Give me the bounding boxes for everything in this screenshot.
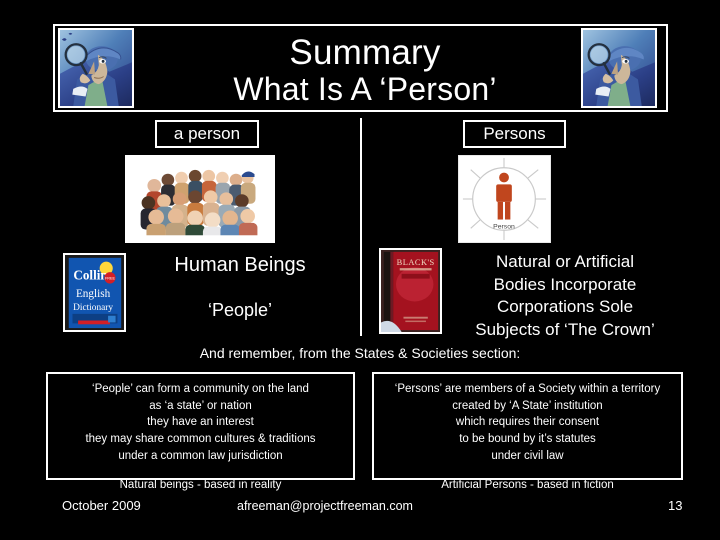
right-column-text: Natural or Artificial Bodies Incorporate… — [440, 251, 690, 341]
blacks-law-dictionary-photo: BLACK'S — [379, 248, 442, 334]
bottom-right-line-5: under civil law — [491, 448, 563, 465]
title-banner: Summary What Is A ‘Person’ — [53, 24, 668, 112]
footer-date: October 2009 — [62, 498, 141, 513]
remember-note: And remember, from the States & Societie… — [0, 345, 720, 361]
column-header-persons-label: Persons — [483, 124, 545, 144]
right-text-line-3: Corporations Sole — [440, 296, 690, 319]
crowd-of-people-photo — [125, 155, 275, 243]
bottom-left-line-5: under a common law jurisdiction — [118, 448, 282, 465]
bottom-box-persons: ‘Persons’ are members of a Society withi… — [372, 372, 683, 480]
left-text-people: ‘People’ — [130, 301, 350, 319]
column-header-persons: Persons — [463, 120, 566, 148]
bottom-right-line-2: created by ‘A State’ institution — [452, 398, 602, 415]
column-header-a-person-label: a person — [174, 124, 240, 144]
bottom-left-line-1: ‘People’ can form a community on the lan… — [92, 381, 309, 398]
collins-english-dictionary-photo: Collins FREE English Dictionary — [63, 253, 126, 332]
svg-text:Dictionary: Dictionary — [73, 303, 113, 313]
bottom-right-line-1: ‘Persons’ are members of a Society withi… — [395, 381, 660, 398]
column-divider-line — [360, 118, 362, 336]
bottom-box-people: ‘People’ can form a community on the lan… — [46, 372, 355, 480]
bottom-left-line-2: as ‘a state’ or nation — [149, 398, 252, 415]
sherlock-holmes-magnifier-illustration — [581, 28, 657, 108]
svg-text:English: English — [76, 288, 111, 300]
footer-page-number: 13 — [668, 498, 682, 513]
bottom-left-line-4: they may share common cultures & traditi… — [85, 431, 315, 448]
title-text-group: Summary What Is A ‘Person’ — [195, 26, 535, 114]
bottom-right-line-4: to be bound by it’s statutes — [459, 431, 596, 448]
left-text-human-beings: Human Beings — [130, 255, 350, 275]
right-text-line-4: Subjects of ‘The Crown’ — [440, 319, 690, 342]
slide-footer: October 2009 afreeman@projectfreeman.com… — [0, 498, 720, 520]
title-line-2: What Is A ‘Person’ — [233, 73, 496, 106]
bottom-left-line-3: they have an interest — [147, 414, 254, 431]
left-column-text: Human Beings ‘People’ — [130, 255, 350, 319]
person-diagram-caption: Person — [493, 223, 515, 230]
person-node-diagram: Person — [458, 155, 551, 243]
svg-text:BLACK'S: BLACK'S — [397, 257, 435, 267]
bottom-right-conclusion: Artificial Persons - based in fiction — [441, 479, 614, 491]
column-header-a-person: a person — [155, 120, 259, 148]
slide-canvas: Summary What Is A ‘Person’ — [0, 0, 720, 540]
svg-text:FREE: FREE — [105, 277, 115, 281]
footer-email: afreeman@projectfreeman.com — [237, 499, 413, 513]
title-line-1: Summary — [289, 35, 440, 71]
right-text-line-1: Natural or Artificial — [440, 251, 690, 274]
bottom-left-conclusion: Natural beings - based in reality — [120, 479, 282, 491]
bottom-right-line-3: which requires their consent — [456, 414, 599, 431]
right-text-line-2: Bodies Incorporate — [440, 274, 690, 297]
sherlock-holmes-magnifier-illustration — [58, 28, 134, 108]
